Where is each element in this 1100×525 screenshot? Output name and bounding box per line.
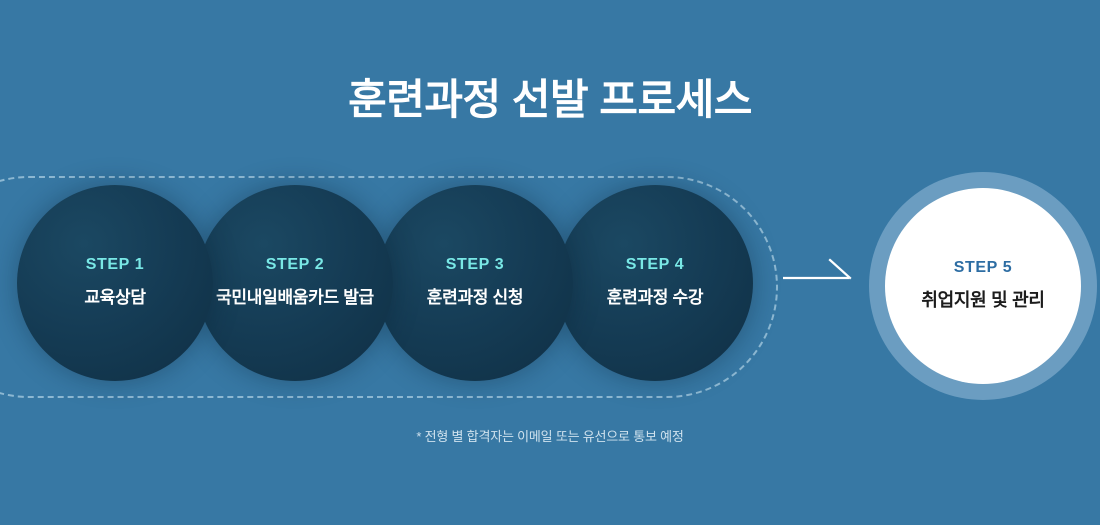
footnote-text: * 전형 별 합격자는 이메일 또는 유선으로 통보 예정 — [0, 426, 1100, 445]
step-3-tag: STEP 3 — [446, 256, 504, 274]
step-2-tag: STEP 2 — [266, 256, 324, 274]
arrow-right-icon — [783, 252, 855, 288]
process-infographic: 훈련과정 선발 프로세스 STEP 1 교육상담 STEP 2 국민내일배움카드… — [0, 0, 1100, 525]
step-3-label: 훈련과정 신청 — [427, 287, 523, 310]
step-1-tag: STEP 1 — [86, 256, 144, 274]
step-circle-5-ring: STEP 5 취업지원 및 관리 — [869, 172, 1097, 400]
step-2-label: 국민내일배움카드 발급 — [216, 287, 374, 310]
step-circle-3[interactable]: STEP 3 훈련과정 신청 — [377, 185, 573, 381]
step-5-tag: STEP 5 — [954, 259, 1012, 277]
step-4-label: 훈련과정 수강 — [607, 287, 703, 310]
step-1-label: 교육상담 — [84, 287, 145, 310]
step-5-label: 취업지원 및 관리 — [921, 288, 1044, 312]
step-4-tag: STEP 4 — [626, 256, 684, 274]
step-circle-4[interactable]: STEP 4 훈련과정 수강 — [557, 185, 753, 381]
step-circle-1[interactable]: STEP 1 교육상담 — [17, 185, 213, 381]
step-circle-5[interactable]: STEP 5 취업지원 및 관리 — [885, 188, 1081, 384]
step-circle-2[interactable]: STEP 2 국민내일배움카드 발급 — [197, 185, 393, 381]
